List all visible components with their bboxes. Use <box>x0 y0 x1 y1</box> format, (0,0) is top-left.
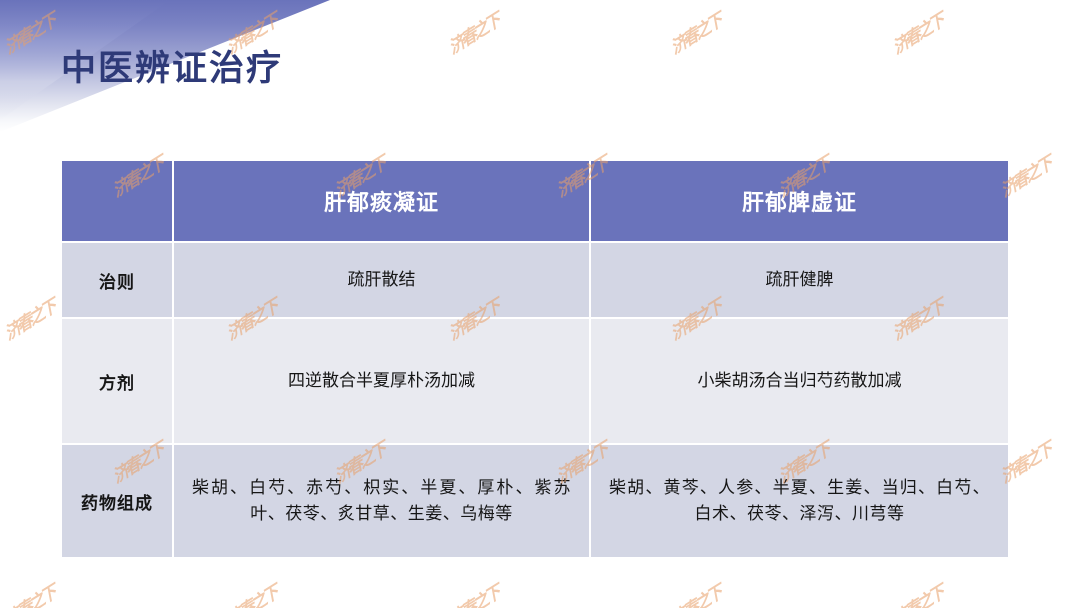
watermark-text: 济春之下 <box>666 6 724 59</box>
table-header: 肝郁痰凝证 肝郁脾虚证 <box>61 160 1009 242</box>
watermark-text: 济春之下 <box>888 6 946 59</box>
cell-formula-syndrome-2: 小柴胡汤合当归芍药散加减 <box>590 318 1009 444</box>
watermark-text: 济春之下 <box>444 6 502 59</box>
syndrome-treatment-table: 肝郁痰凝证 肝郁脾虚证 治则 疏肝散结 疏肝健脾 方剂 四逆散合半夏厚朴汤加减 … <box>61 160 1009 558</box>
table-corner-cell <box>61 160 173 242</box>
watermark-text: 济春之下 <box>444 578 502 608</box>
row-label-composition: 药物组成 <box>61 444 173 558</box>
table-row-treatment-principle: 治则 疏肝散结 疏肝健脾 <box>61 242 1009 318</box>
cell-treatment-principle-syndrome-1: 疏肝散结 <box>173 242 590 318</box>
watermark-text: 济春之下 <box>0 6 58 59</box>
column-header-syndrome-1: 肝郁痰凝证 <box>173 160 590 242</box>
table-header-row: 肝郁痰凝证 肝郁脾虚证 <box>61 160 1009 242</box>
row-label-treatment-principle: 治则 <box>61 242 173 318</box>
column-header-syndrome-2: 肝郁脾虚证 <box>590 160 1009 242</box>
cell-formula-syndrome-1: 四逆散合半夏厚朴汤加减 <box>173 318 590 444</box>
watermark-text: 济春之下 <box>888 578 946 608</box>
cell-treatment-principle-syndrome-2: 疏肝健脾 <box>590 242 1009 318</box>
cell-composition-syndrome-1: 柴胡、白芍、赤芍、枳实、半夏、厚朴、紫苏叶、茯苓、炙甘草、生姜、乌梅等 <box>173 444 590 558</box>
table-row-composition: 药物组成 柴胡、白芍、赤芍、枳实、半夏、厚朴、紫苏叶、茯苓、炙甘草、生姜、乌梅等… <box>61 444 1009 558</box>
watermark-text: 济春之下 <box>0 578 58 608</box>
cell-composition-syndrome-2: 柴胡、黄芩、人参、半夏、生姜、当归、白芍、白术、茯苓、泽泻、川芎等 <box>590 444 1009 558</box>
slide-canvas: 中医辨证治疗 肝郁痰凝证 肝郁脾虚证 治则 疏肝散结 疏肝健脾 方剂 四逆散合半… <box>0 0 1080 608</box>
watermark-text: 济春之下 <box>666 578 724 608</box>
table-body: 治则 疏肝散结 疏肝健脾 方剂 四逆散合半夏厚朴汤加减 小柴胡汤合当归芍药散加减… <box>61 242 1009 558</box>
watermark-text: 济春之下 <box>222 578 280 608</box>
table-row-formula: 方剂 四逆散合半夏厚朴汤加减 小柴胡汤合当归芍药散加减 <box>61 318 1009 444</box>
page-title: 中医辨证治疗 <box>61 48 283 90</box>
watermark-text: 济春之下 <box>0 292 58 345</box>
row-label-formula: 方剂 <box>61 318 173 444</box>
